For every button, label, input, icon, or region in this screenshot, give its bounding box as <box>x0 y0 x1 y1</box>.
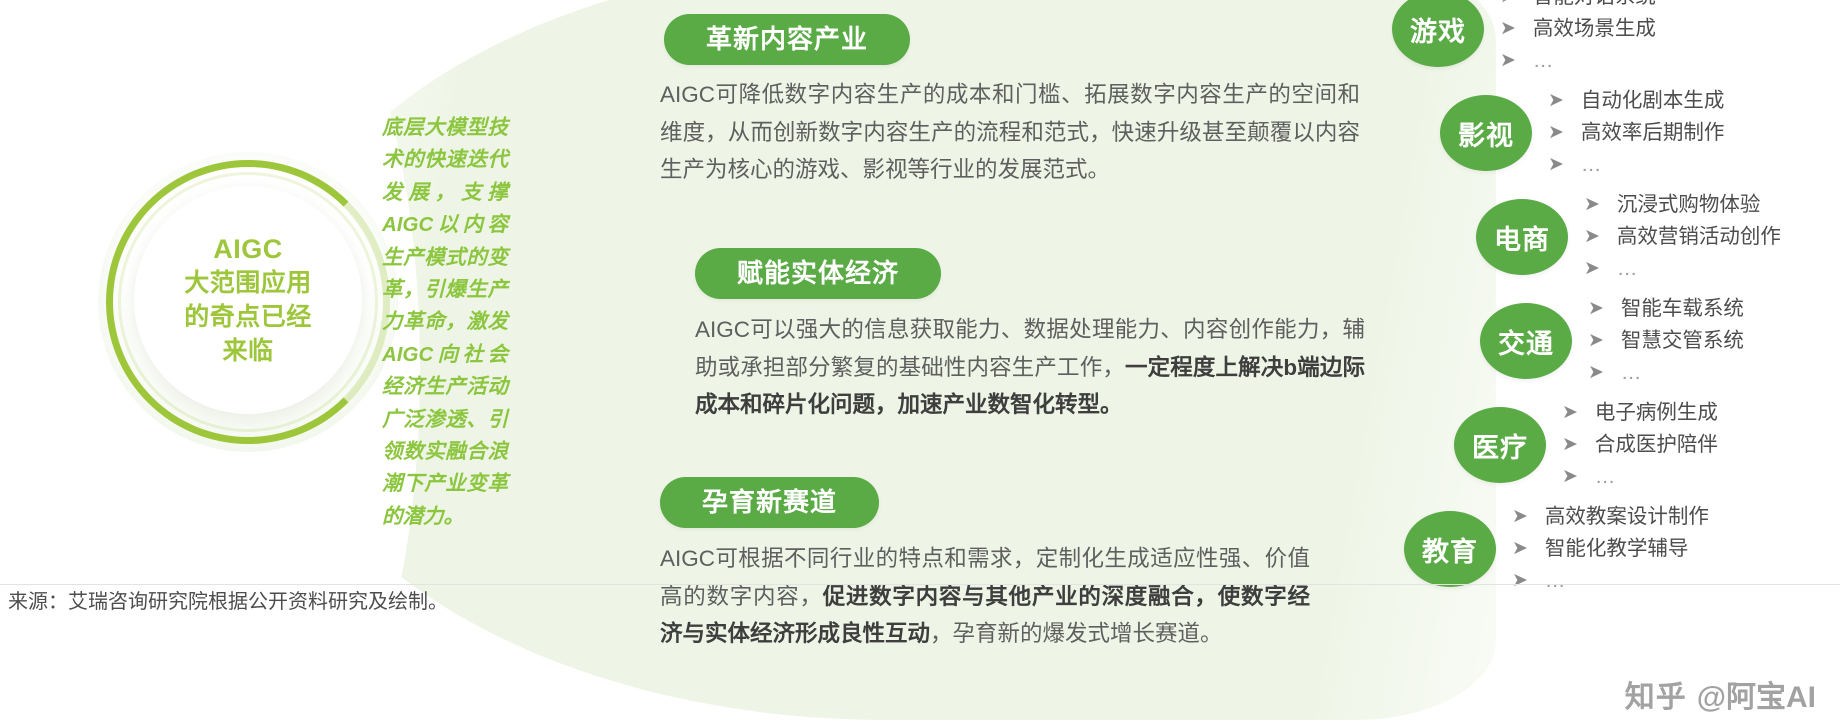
badge-core: AIGC 大范围应用 的奇点已经 来临 <box>134 186 362 414</box>
list-item: ➤… <box>1588 357 1840 389</box>
list-item: ➤智能化教学辅导 <box>1512 533 1840 565</box>
list-item: ➤合成医护陪伴 <box>1562 429 1840 461</box>
bullet-arrow-icon: ➤ <box>1548 85 1564 117</box>
industry-badge-ecommerce: 电商 <box>1476 199 1568 275</box>
bullet-label: 电子病例生成 <box>1595 397 1718 429</box>
section-2-title: 赋能实体经济 <box>695 248 941 299</box>
bullet-label: … <box>1533 45 1556 77</box>
industry-badge-transport: 交通 <box>1480 303 1572 379</box>
infographic-canvas: AIGC 大范围应用 的奇点已经 来临 底层大模型技术的快速迭代发展，支撑AIG… <box>0 0 1840 728</box>
industry-bullets-transport: ➤智能车载系统 ➤智慧交管系统 ➤… <box>1588 293 1840 389</box>
section-empower-real-economy: 赋能实体经济 AIGC可以强大的信息获取能力、数据处理能力、内容创作能力，辅助或… <box>695 248 1365 424</box>
bullet-arrow-icon: ➤ <box>1584 221 1600 253</box>
bullet-label: 智能车载系统 <box>1621 293 1744 325</box>
industry-badge-film-tv: 影视 <box>1440 95 1532 171</box>
bullet-arrow-icon: ➤ <box>1512 501 1528 533</box>
section-1-body-plain: AIGC可降低数字内容生产的成本和门槛、拓展数字内容生产的空间和维度，从而创新数… <box>660 82 1360 182</box>
bullet-arrow-icon: ➤ <box>1512 565 1528 597</box>
side-note-text: 底层大模型技术的快速迭代发展，支撑AIGC以内容生产模式的变革，引爆生产力革命，… <box>382 112 508 533</box>
aigc-center-badge: AIGC 大范围应用 的奇点已经 来临 <box>98 152 398 452</box>
bullet-label: … <box>1617 253 1640 285</box>
section-2-body: AIGC可以强大的信息获取能力、数据处理能力、内容创作能力，辅助或承担部分繁复的… <box>695 311 1365 424</box>
bullet-arrow-icon: ➤ <box>1562 429 1578 461</box>
list-item: ➤… <box>1562 461 1840 493</box>
industry-row-transport: 交通 ➤智能车载系统 ➤智慧交管系统 ➤… <box>1480 290 1840 392</box>
watermark-handle: @阿宝AI <box>1697 672 1816 716</box>
list-item: ➤高效场景生成 <box>1500 13 1840 45</box>
bullet-label: 高效场景生成 <box>1533 13 1656 45</box>
bullet-label: 智能化教学辅导 <box>1545 533 1689 565</box>
list-item: ➤高效营销活动创作 <box>1584 221 1840 253</box>
list-item: ➤… <box>1500 45 1840 77</box>
bullet-label: … <box>1621 357 1644 389</box>
bullet-arrow-icon: ➤ <box>1584 253 1600 285</box>
industry-list: 游戏 ➤智能对话系统 ➤高效场景生成 ➤… 影视 ➤自动化剧本生成 ➤高效率后期… <box>1392 0 1840 600</box>
industry-badge-games: 游戏 <box>1392 0 1484 67</box>
industry-bullets-ecommerce: ➤沉浸式购物体验 ➤高效营销活动创作 ➤… <box>1584 189 1840 285</box>
industry-row-games: 游戏 ➤智能对话系统 ➤高效场景生成 ➤… <box>1392 0 1840 80</box>
list-item: ➤电子病例生成 <box>1562 397 1840 429</box>
industry-badge-healthcare: 医疗 <box>1454 407 1546 483</box>
section-3-title: 孕育新赛道 <box>660 477 879 528</box>
list-item: ➤智能对话系统 <box>1500 0 1840 13</box>
section-3-body-tail: ，孕育新的爆发式增长赛道。 <box>930 621 1223 646</box>
list-item: ➤高效教案设计制作 <box>1512 501 1840 533</box>
section-innovate-content-industry: 革新内容产业 AIGC可降低数字内容生产的成本和门槛、拓展数字内容生产的空间和维… <box>660 14 1360 189</box>
industry-bullets-education: ➤高效教案设计制作 ➤智能化教学辅导 ➤… <box>1512 501 1840 597</box>
industry-row-film-tv: 影视 ➤自动化剧本生成 ➤高效率后期制作 ➤… <box>1440 82 1840 184</box>
bullet-label: 高效营销活动创作 <box>1617 221 1781 253</box>
bullet-label: 合成医护陪伴 <box>1595 429 1718 461</box>
list-item: ➤… <box>1548 149 1840 181</box>
industry-bullets-healthcare: ➤电子病例生成 ➤合成医护陪伴 ➤… <box>1562 397 1840 493</box>
bullet-label: 自动化剧本生成 <box>1581 85 1725 117</box>
list-item: ➤智能车载系统 <box>1588 293 1840 325</box>
bullet-arrow-icon: ➤ <box>1548 149 1564 181</box>
list-item: ➤自动化剧本生成 <box>1548 85 1840 117</box>
section-nurture-new-tracks: 孕育新赛道 AIGC可根据不同行业的特点和需求，定制化生成适应性强、价值高的数字… <box>660 477 1320 653</box>
list-item: ➤… <box>1584 253 1840 285</box>
bullet-label: 智能对话系统 <box>1533 0 1656 13</box>
bullet-label: 智慧交管系统 <box>1621 325 1744 357</box>
bullet-arrow-icon: ➤ <box>1584 189 1600 221</box>
bullet-arrow-icon: ➤ <box>1588 357 1604 389</box>
bullet-arrow-icon: ➤ <box>1500 13 1516 45</box>
industry-bullets-games: ➤智能对话系统 ➤高效场景生成 ➤… <box>1500 0 1840 77</box>
bullet-arrow-icon: ➤ <box>1562 461 1578 493</box>
bullet-label: 高效率后期制作 <box>1581 117 1725 149</box>
bullet-arrow-icon: ➤ <box>1500 45 1516 77</box>
bullet-label: … <box>1545 565 1568 597</box>
badge-line-latin: AIGC <box>184 232 312 266</box>
bullet-arrow-icon: ➤ <box>1512 533 1528 565</box>
list-item: ➤… <box>1512 565 1840 597</box>
list-item: ➤智慧交管系统 <box>1588 325 1840 357</box>
bullet-label: 高效教案设计制作 <box>1545 501 1709 533</box>
badge-line-2: 的奇点已经 <box>184 303 312 331</box>
bullet-arrow-icon: ➤ <box>1588 325 1604 357</box>
list-item: ➤沉浸式购物体验 <box>1584 189 1840 221</box>
watermark: 知乎 @阿宝AI <box>1625 672 1816 716</box>
badge-text: AIGC 大范围应用 的奇点已经 来临 <box>184 232 312 368</box>
industry-badge-education: 教育 <box>1404 511 1496 587</box>
badge-line-1: 大范围应用 <box>184 269 312 297</box>
industry-row-healthcare: 医疗 ➤电子病例生成 ➤合成医护陪伴 ➤… <box>1454 394 1840 496</box>
bullet-label: … <box>1595 461 1618 493</box>
section-1-body: AIGC可降低数字内容生产的成本和门槛、拓展数字内容生产的空间和维度，从而创新数… <box>660 76 1360 189</box>
badge-line-3: 来临 <box>222 337 273 365</box>
bullet-label: … <box>1581 149 1604 181</box>
source-note: 来源：艾瑞咨询研究院根据公开资料研究及绘制。 <box>8 588 448 616</box>
section-1-title: 革新内容产业 <box>664 14 910 65</box>
industry-row-ecommerce: 电商 ➤沉浸式购物体验 ➤高效营销活动创作 ➤… <box>1476 186 1840 288</box>
bullet-arrow-icon: ➤ <box>1548 117 1564 149</box>
watermark-logo: 知乎 <box>1625 672 1687 716</box>
bullet-arrow-icon: ➤ <box>1562 397 1578 429</box>
industry-bullets-film-tv: ➤自动化剧本生成 ➤高效率后期制作 ➤… <box>1548 85 1840 181</box>
footer-divider <box>0 584 1840 585</box>
bullet-arrow-icon: ➤ <box>1500 0 1516 13</box>
list-item: ➤高效率后期制作 <box>1548 117 1840 149</box>
bullet-arrow-icon: ➤ <box>1588 293 1604 325</box>
section-3-body: AIGC可根据不同行业的特点和需求，定制化生成适应性强、价值高的数字内容，促进数… <box>660 540 1310 653</box>
bullet-label: 沉浸式购物体验 <box>1617 189 1761 221</box>
